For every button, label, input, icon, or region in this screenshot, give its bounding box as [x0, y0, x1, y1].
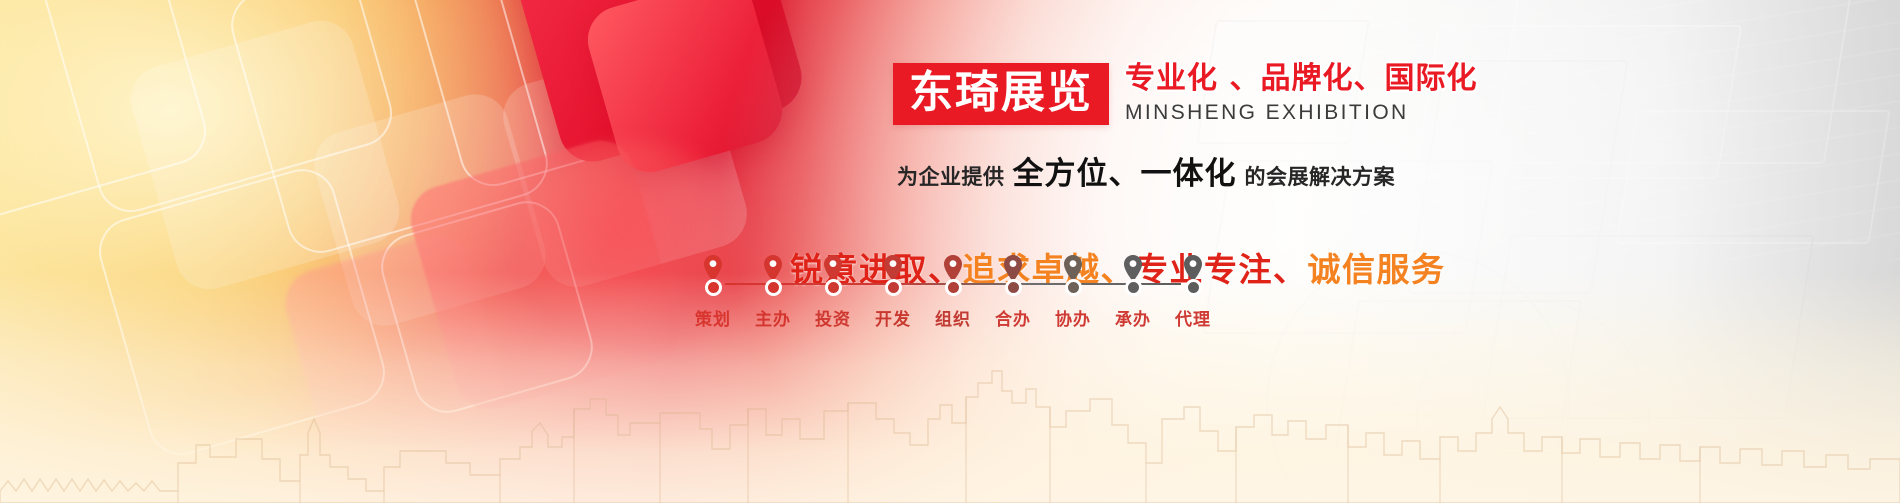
brand-side-text: 专业化 、品牌化、国际化 MINSHENG EXHIBITION [1109, 63, 1477, 125]
map-pin-icon [1124, 255, 1142, 281]
timeline-label: 主办 [751, 305, 795, 330]
brand-name: 东琦展览 [909, 71, 1093, 115]
timeline-item-代理[interactable]: 代理 [1171, 255, 1215, 330]
headline-suffix: 的会展解决方案 [1245, 161, 1396, 191]
headline-prefix: 为企业提供 [897, 161, 1005, 191]
map-pin-icon [944, 255, 962, 281]
banner-content: 东琦展览 专业化 、品牌化、国际化 MINSHENG EXHIBITION 为企… [0, 0, 1900, 503]
timeline-label: 协办 [1051, 305, 1095, 330]
timeline-item-承办[interactable]: 承办 [1111, 255, 1155, 330]
timeline-label: 组织 [931, 305, 975, 330]
timeline-node-dot [945, 279, 962, 296]
timeline-item-策划[interactable]: 策划 [691, 255, 735, 330]
map-pin-icon [704, 255, 722, 281]
map-pin-icon [824, 255, 842, 281]
timeline-node-dot [1125, 279, 1142, 296]
timeline-item-主办[interactable]: 主办 [751, 255, 795, 330]
timeline-item-投资[interactable]: 投资 [811, 255, 855, 330]
timeline-item-合办[interactable]: 合办 [991, 255, 1035, 330]
map-pin-icon [1184, 255, 1202, 281]
timeline-node-dot [705, 279, 722, 296]
brand-en-name: MINSHENG EXHIBITION [1125, 101, 1477, 125]
timeline-label: 代理 [1171, 305, 1215, 330]
timeline-node-dot [765, 279, 782, 296]
timeline-node-dot [1065, 279, 1082, 296]
timeline-node-dot [1185, 279, 1202, 296]
map-pin-icon [1004, 255, 1022, 281]
promo-banner: 东琦展览 专业化 、品牌化、国际化 MINSHENG EXHIBITION 为企… [0, 0, 1900, 503]
timeline-node-dot [825, 279, 842, 296]
timeline-label: 投资 [811, 305, 855, 330]
service-timeline: 策划主办投资开发组织合办协办承办代理 [713, 255, 1193, 325]
timeline-node-dot [1005, 279, 1022, 296]
timeline-item-开发[interactable]: 开发 [871, 255, 915, 330]
brand-cn-tagline: 专业化 、品牌化、国际化 [1125, 63, 1477, 95]
headline: 为企业提供 全方位、一体化 的会展解决方案 [897, 148, 1395, 193]
timeline-label: 合办 [991, 305, 1035, 330]
timeline-item-组织[interactable]: 组织 [931, 255, 975, 330]
timeline-label: 开发 [871, 305, 915, 330]
timeline-label: 策划 [691, 305, 735, 330]
slogan-part-3: 诚信服务 [1308, 250, 1446, 289]
brand-logo-box: 东琦展览 [893, 63, 1109, 125]
timeline-node-dot [885, 279, 902, 296]
map-pin-icon [764, 255, 782, 281]
brand-logo-lockup: 东琦展览 专业化 、品牌化、国际化 MINSHENG EXHIBITION [893, 63, 1477, 125]
timeline-item-协办[interactable]: 协办 [1051, 255, 1095, 330]
map-pin-icon [884, 255, 902, 281]
headline-emphasis: 全方位、一体化 [1005, 148, 1245, 193]
map-pin-icon [1064, 255, 1082, 281]
timeline-label: 承办 [1111, 305, 1155, 330]
